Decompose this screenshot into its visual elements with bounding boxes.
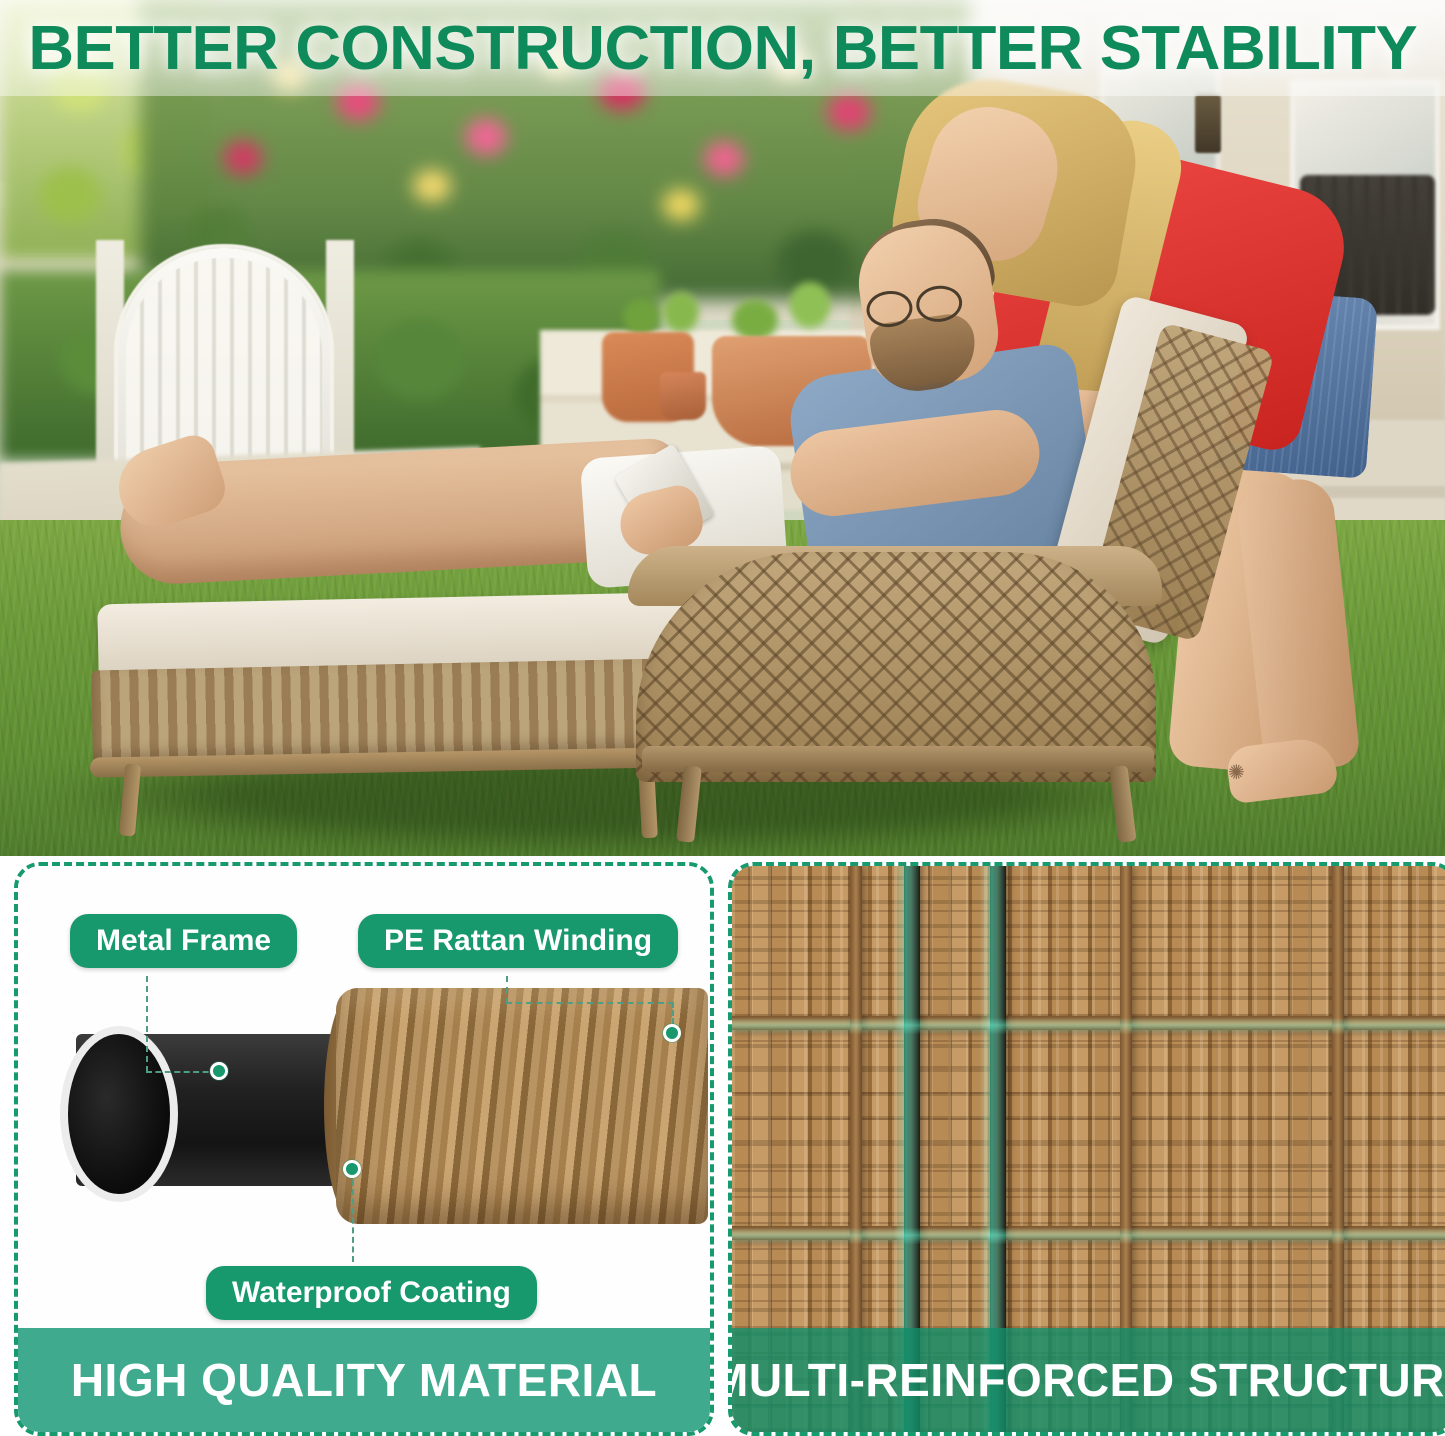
panel-multi-reinforced-structure: MULTI-REINFORCED STRUCTURE bbox=[728, 862, 1445, 1436]
callout-dot-pe-rattan bbox=[663, 1024, 681, 1042]
callout-label-pe-rattan-winding: PE Rattan Winding bbox=[358, 914, 678, 968]
headline-banner: BETTER CONSTRUCTION, BETTER STABILITY bbox=[0, 0, 1445, 96]
hero-photo: ✺ bbox=[0, 0, 1445, 856]
hero-photo-section: ✺ bbox=[0, 0, 1445, 856]
caption-high-quality-material: HIGH QUALITY MATERIAL bbox=[18, 1328, 710, 1432]
leader-line-rattan-horizontal bbox=[506, 1002, 674, 1004]
white-garden-gate bbox=[118, 248, 330, 463]
leader-line-metal-horizontal bbox=[146, 1071, 218, 1073]
chaise-base-weave bbox=[91, 658, 713, 763]
chaise-lounge bbox=[80, 560, 1170, 840]
panel-high-quality-material: Metal Frame PE Rattan Winding Waterproof… bbox=[14, 862, 714, 1436]
feature-panels: Metal Frame PE Rattan Winding Waterproof… bbox=[0, 862, 1445, 1436]
steel-tube-bore bbox=[68, 1034, 170, 1194]
callout-dot-metal-frame bbox=[210, 1062, 228, 1080]
callout-label-metal-frame: Metal Frame bbox=[70, 914, 297, 968]
page-title: BETTER CONSTRUCTION, BETTER STABILITY bbox=[28, 13, 1417, 84]
highlight-horizontal-2 bbox=[732, 1228, 1445, 1244]
callout-label-waterproof-coating: Waterproof Coating bbox=[206, 1266, 537, 1320]
callout-dot-waterproof bbox=[343, 1160, 361, 1178]
leader-line-waterproof bbox=[352, 1170, 354, 1262]
pe-rattan-wrap bbox=[336, 988, 708, 1224]
ankle-tattoo: ✺ bbox=[1228, 762, 1254, 784]
caption-multi-reinforced-structure: MULTI-REINFORCED STRUCTURE bbox=[732, 1328, 1445, 1432]
chaise-arm-base bbox=[642, 746, 1154, 772]
gate-post-right bbox=[326, 240, 354, 470]
highlight-horizontal-1 bbox=[732, 1018, 1445, 1034]
terracotta-pot-c bbox=[660, 372, 706, 420]
leader-line-rattan-v1 bbox=[506, 976, 508, 1004]
leader-line-metal-vertical bbox=[146, 976, 148, 1072]
porch-lantern bbox=[1195, 95, 1221, 153]
